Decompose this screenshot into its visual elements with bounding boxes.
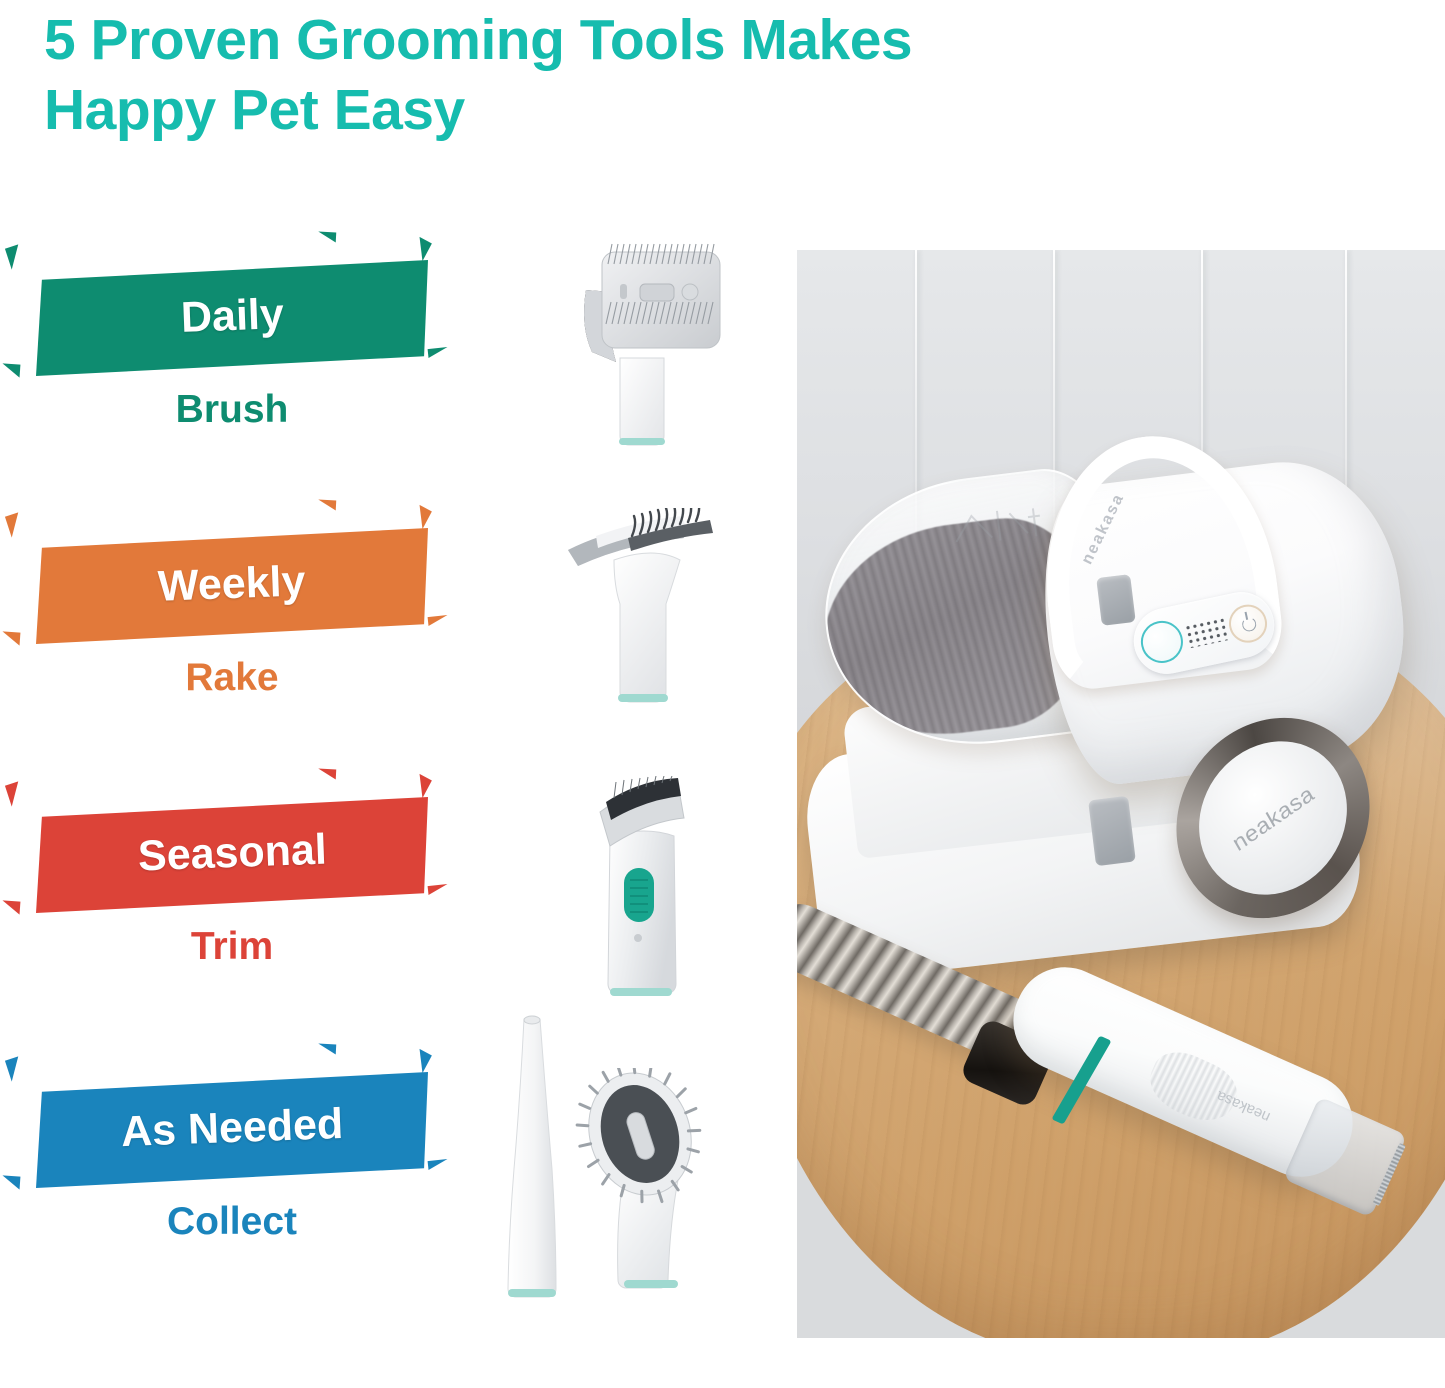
corner-tick-icon [5,781,25,806]
electric-clipper-icon [580,776,710,1004]
led-indicator-grid [1184,617,1228,649]
canister-latch-icon [1088,796,1136,866]
frequency-action-label: Brush [36,388,428,432]
corner-tick-icon [428,347,449,358]
frequency-badge-as-needed: As Needed [36,1072,428,1188]
end-cap-inner: neakasa [1191,725,1356,910]
corner-tick-icon [318,232,336,243]
frequency-badge-label: As Needed [120,1099,344,1156]
corner-tick-icon [318,1044,336,1055]
corner-tick-icon [5,512,25,537]
crevice-nozzle-icon [502,1011,572,1301]
corner-tick-icon [428,884,449,895]
frequency-item-weekly: Weekly Rake [0,504,470,754]
frequency-item-seasonal: Seasonal Trim [0,773,470,1023]
corner-tick-icon [2,631,21,645]
tool-illustrations [490,236,790,1306]
corner-tick-icon [410,774,432,798]
deshedding-rake-icon [562,508,737,716]
frequency-badge-weekly: Weekly [36,528,428,644]
product-photo: neakasa neakasa neakasa [797,250,1445,1338]
corner-tick-icon [2,363,21,377]
corner-tick-icon [410,505,432,529]
corner-tick-icon [318,500,336,511]
frequency-badge-seasonal: Seasonal [36,797,428,913]
frequency-action-label: Rake [36,656,428,700]
power-button[interactable] [1225,601,1270,646]
mode-button[interactable] [1137,617,1187,667]
frequency-item-daily: Daily Brush [0,236,470,486]
corner-tick-icon [428,1159,449,1170]
frequency-badge-daily: Daily [36,260,428,376]
frequency-item-as-needed: As Needed Collect [0,1048,470,1298]
frequency-badge-label: Seasonal [137,825,327,881]
canister-latch-icon [1096,574,1136,626]
corner-tick-icon [2,1175,21,1189]
cleaning-brush-icon [568,1068,728,1300]
frequency-badge-label: Daily [180,290,285,343]
brand-logo-text: neakasa [1228,780,1319,856]
corner-tick-icon [410,1049,432,1073]
frequency-badge-label: Weekly [157,557,306,611]
corner-tick-icon [5,1056,25,1081]
corner-tick-icon [5,244,25,269]
corner-tick-icon [428,615,449,626]
corner-tick-icon [410,237,432,261]
frequency-action-label: Trim [36,925,428,969]
deshedding-brush-icon [562,240,732,452]
page-title: 5 Proven Grooming Tools Makes Happy Pet … [44,6,1194,145]
frequency-list: Daily Brush Weekly Rake Seasonal Trim [0,236,500,1306]
corner-tick-icon [318,769,336,780]
frequency-action-label: Collect [36,1200,428,1244]
corner-tick-icon [2,900,21,914]
